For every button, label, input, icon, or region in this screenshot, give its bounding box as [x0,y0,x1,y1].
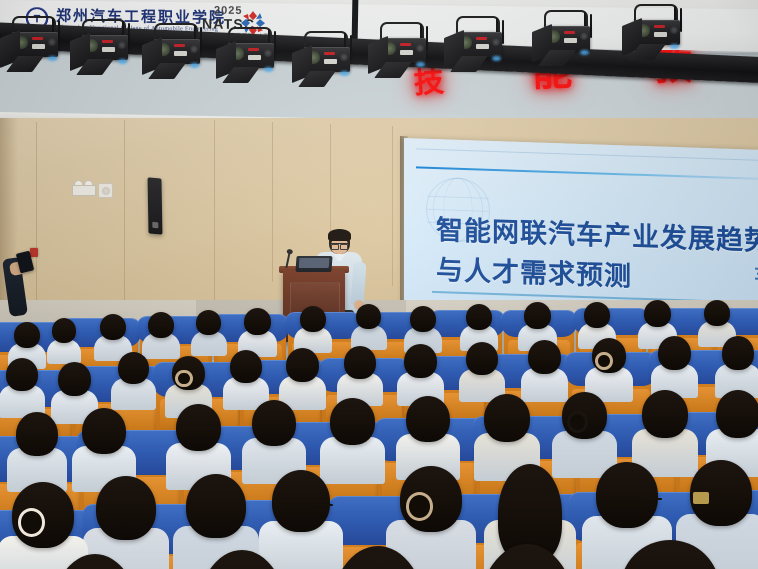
audience-member [196,550,288,569]
speaker-glasses-icon [331,243,348,248]
audience-member [50,554,140,569]
audience-head [528,340,561,374]
audience-member [196,310,221,358]
audience-member [118,352,149,413]
wall-seam-4 [330,124,331,244]
slide-title-line2: 与人才需求预测 [436,257,632,291]
audience-head [52,318,76,343]
glasses-icon [314,504,334,506]
audience-head [272,470,330,532]
slide-accent-line-top [416,166,758,180]
audience-head [584,302,610,328]
hair-tie [175,370,192,388]
audience-head [6,358,38,391]
audience-head [478,544,576,569]
audience-head [356,304,381,329]
audience-head [466,342,498,375]
slide-title-line1: 智能网联汽车产业发展趋势 [436,217,758,255]
audience-head [118,352,149,384]
audience-head [58,362,91,396]
audience-head [658,336,691,370]
audience-head [252,400,296,446]
audience-member [356,304,381,352]
audience-member [52,318,76,366]
audience-head [16,412,58,456]
conference-hall-photo: T 郑州汽车工程职业学院 Zhengzhou Vocational Colleg… [0,0,758,569]
line-array-speaker [148,177,163,234]
audience-head [244,308,271,335]
hair-tie [18,508,45,536]
audience-member [478,544,576,569]
audience-head [620,540,720,569]
audience-member [148,312,174,361]
audience-head [286,348,319,382]
glasses-icon [641,498,662,500]
hair-tie [406,492,433,520]
audience-head [404,344,437,378]
fire-alarm-icon [30,248,38,257]
hair-clip [693,492,709,504]
audience-head [96,476,156,540]
audience-head [716,390,758,438]
emergency-light-fixture [72,180,94,194]
audience-head [148,312,174,338]
audience-head [196,550,288,569]
audience-head [406,396,450,442]
audience-member [528,340,561,405]
audience-head [330,546,426,569]
audience-head [230,350,262,383]
audience-head [14,322,40,348]
hair-tie [567,411,588,433]
wall-seam-3 [272,122,273,282]
wall-seam-2 [214,120,215,320]
wall-speaker-round [98,183,113,198]
laptop [295,256,332,272]
speaker-hair [328,229,351,241]
audience-head [344,346,376,379]
audience-head [82,408,126,454]
audience-head [722,336,754,370]
audience-head [642,390,688,438]
audience-head [300,306,326,332]
audience-head [704,300,730,326]
audience-head [410,306,436,332]
audience-member [330,546,426,569]
audience-head [330,398,375,445]
audience-member [620,540,720,569]
audience-head [644,300,671,327]
audience-head [466,304,492,330]
wall-seam-5 [392,126,393,286]
audience-head [50,554,140,569]
audience-head [484,394,530,442]
audience-seating-area [0,300,758,569]
audience-head [596,462,658,528]
hair-tie [595,352,613,370]
audience-member [330,398,375,487]
audience-head [100,314,126,340]
audience-head [186,474,246,538]
audience-head [196,310,221,335]
audience-head [176,404,221,451]
audience-head [524,302,551,329]
